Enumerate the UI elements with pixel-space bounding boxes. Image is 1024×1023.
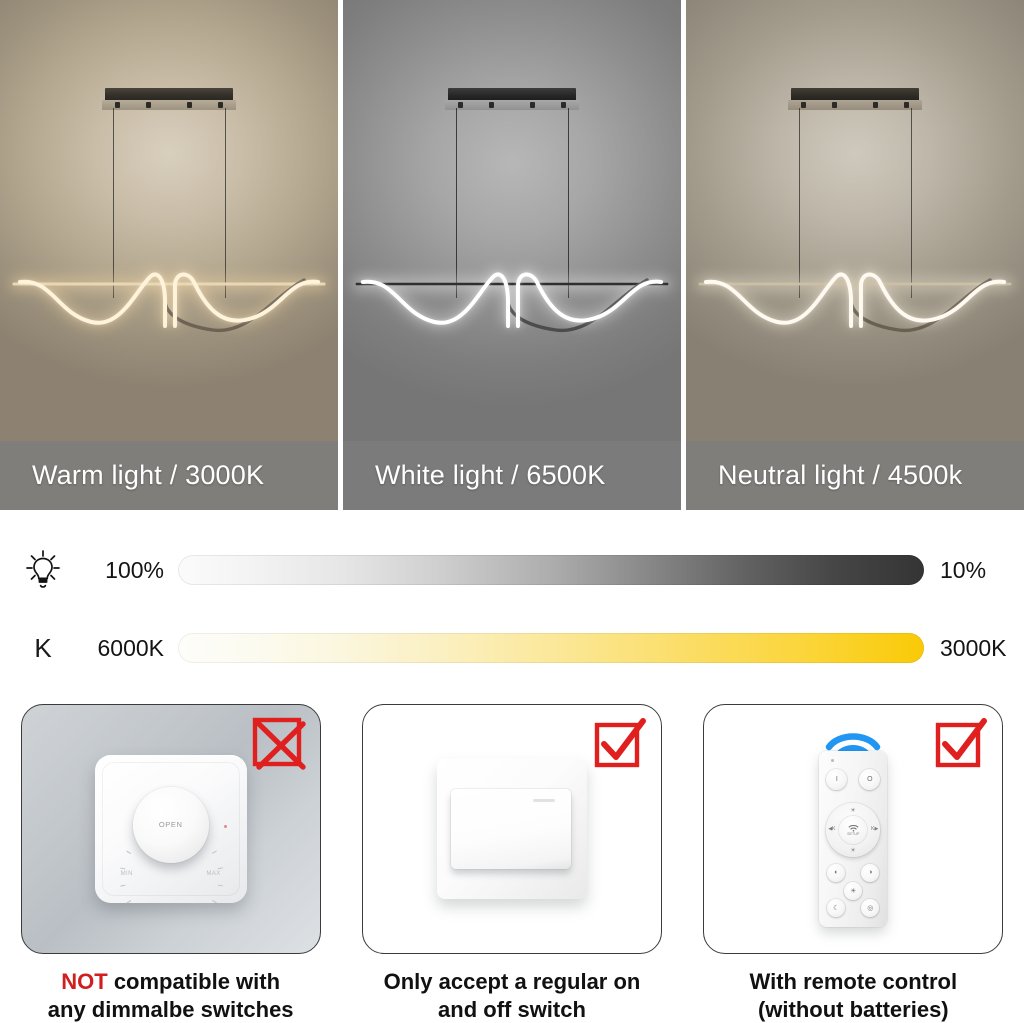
remote-setup-button[interactable]: SETUP bbox=[839, 816, 867, 844]
caption-line2: and off switch bbox=[438, 997, 586, 1022]
kelvin-icon: K bbox=[0, 633, 86, 664]
cct-gradient-bar[interactable] bbox=[178, 633, 924, 663]
dimming-range-section: 100% 10% K 6000K 3000K bbox=[0, 510, 1024, 692]
remote-power-off-button[interactable]: O bbox=[859, 769, 880, 790]
led-pendant-lamp-white bbox=[343, 230, 681, 380]
setup-label: SETUP bbox=[847, 832, 859, 836]
cct-slider-row: K 6000K 3000K bbox=[0, 622, 1024, 674]
brightness-slider-row: 100% 10% bbox=[0, 544, 1024, 596]
setup-wifi-icon bbox=[848, 824, 859, 832]
photo-caption-white: White light / 6500K bbox=[343, 441, 681, 510]
cross-mark-icon bbox=[252, 717, 306, 771]
dimmer-max-label: MAX bbox=[206, 871, 220, 877]
compat-card-dimmer: OPEN MIN MAX NOT compatible with any dim… bbox=[0, 704, 341, 1023]
led-pendant-lamp-neutral bbox=[686, 230, 1024, 380]
photo-caption-text: Warm light / 3000K bbox=[32, 460, 264, 491]
caption-highlight: NOT bbox=[61, 969, 107, 994]
switch-indicator-led bbox=[533, 799, 555, 802]
compatibility-section: OPEN MIN MAX NOT compatible with any dim… bbox=[0, 692, 1024, 1023]
caption-rest: compatible with bbox=[108, 969, 280, 994]
photo-caption-text: White light / 6500K bbox=[375, 460, 605, 491]
brightness-gradient-bar[interactable] bbox=[178, 555, 924, 585]
ir-led-dot bbox=[831, 759, 834, 762]
brightness-up-icon: ☀ bbox=[850, 807, 855, 814]
remote-dpad[interactable]: ☀ ☀ ◀K K▶ SETUP bbox=[826, 803, 880, 857]
remote-card-frame[interactable]: I O ☀ ☀ ◀K K▶ bbox=[703, 704, 1003, 954]
brightness-down-icon: ☀ bbox=[850, 847, 855, 854]
ceiling-canopy bbox=[791, 88, 919, 110]
cct-cool-label: 6000K bbox=[86, 635, 178, 662]
dimmer-min-label: MIN bbox=[121, 871, 133, 877]
ceiling-canopy bbox=[448, 88, 576, 110]
remote-cool-mode-button[interactable]: ◐ bbox=[827, 864, 845, 882]
cct-warm-label: 3000K bbox=[924, 635, 1024, 662]
ir-remote-control: I O ☀ ☀ ◀K K▶ bbox=[819, 751, 887, 927]
scene-neutral bbox=[686, 0, 1024, 510]
scene-white bbox=[343, 0, 681, 510]
scene-warm bbox=[0, 0, 338, 510]
remote-night-mode-button[interactable]: ☾ bbox=[827, 899, 845, 917]
compat-card-onoff: Only accept a regular on and off switch bbox=[341, 704, 682, 1023]
onoff-card-caption: Only accept a regular on and off switch bbox=[384, 968, 641, 1023]
caption-line2: (without batteries) bbox=[758, 997, 949, 1022]
remote-timer-button[interactable]: ◎ bbox=[861, 899, 879, 917]
dimmer-card-frame[interactable]: OPEN MIN MAX bbox=[21, 704, 321, 954]
power-on-label: I bbox=[836, 776, 838, 783]
check-mark-icon bbox=[593, 717, 647, 771]
photo-cell-warm[interactable]: Warm light / 3000K bbox=[0, 0, 338, 510]
photo-cell-white[interactable]: White light / 6500K bbox=[343, 0, 681, 510]
photo-caption-warm: Warm light / 3000K bbox=[0, 441, 338, 510]
compat-card-remote: I O ☀ ☀ ◀K K▶ bbox=[683, 704, 1024, 1023]
caption-rest: With remote control bbox=[750, 969, 958, 994]
next-scene-label: K▶ bbox=[871, 826, 878, 832]
prev-scene-label: ◀K bbox=[828, 826, 835, 832]
ceiling-canopy bbox=[105, 88, 233, 110]
switch-rocker[interactable] bbox=[451, 789, 571, 869]
onoff-card-frame[interactable] bbox=[362, 704, 662, 954]
remote-warm-mode-button[interactable]: ◑ bbox=[861, 864, 879, 882]
check-mark-icon bbox=[934, 717, 988, 771]
dimmer-card-caption: NOT compatible with any dimmalbe switche… bbox=[48, 968, 294, 1023]
kelvin-letter: K bbox=[34, 633, 51, 664]
led-pendant-lamp-warm bbox=[0, 230, 338, 380]
rotary-dimmer-switch: OPEN MIN MAX bbox=[95, 755, 247, 903]
remote-brightness-button[interactable]: ☀ bbox=[844, 882, 862, 900]
photo-caption-text: Neutral light / 4500k bbox=[718, 460, 962, 491]
dimmer-knob-label: OPEN bbox=[159, 820, 183, 829]
light-bulb-icon bbox=[0, 548, 86, 592]
photo-caption-neutral: Neutral light / 4500k bbox=[686, 441, 1024, 510]
photo-cell-neutral[interactable]: Neutral light / 4500k bbox=[686, 0, 1024, 510]
rocker-wall-switch bbox=[437, 759, 587, 899]
power-off-label: O bbox=[867, 776, 872, 783]
dimmer-indicator-dot bbox=[224, 825, 227, 828]
light-temperature-gallery: Warm light / 3000K bbox=[0, 0, 1024, 510]
brightness-min-label: 10% bbox=[924, 557, 1024, 584]
brightness-max-label: 100% bbox=[86, 557, 178, 584]
remote-power-on-button[interactable]: I bbox=[826, 769, 847, 790]
caption-rest: Only accept a regular on bbox=[384, 969, 641, 994]
remote-card-caption: With remote control (without batteries) bbox=[750, 968, 958, 1023]
dimmer-knob[interactable]: OPEN bbox=[133, 787, 209, 863]
caption-line2: any dimmalbe switches bbox=[48, 997, 294, 1022]
